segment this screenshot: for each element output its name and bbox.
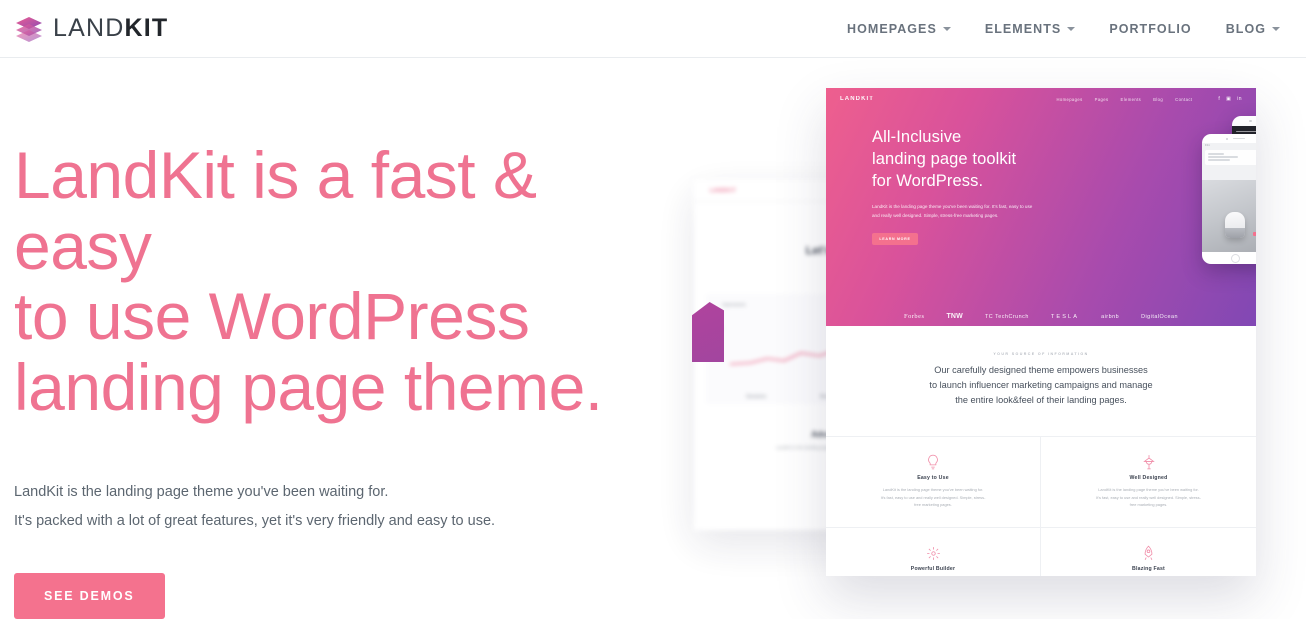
learn-more-button[interactable]: LEARN MORE bbox=[872, 233, 918, 245]
nav-item-portfolio[interactable]: PORTFOLIO bbox=[1109, 22, 1191, 36]
instagram-icon[interactable]: ▣ bbox=[1226, 97, 1231, 102]
chevron-down-icon bbox=[943, 27, 951, 31]
main-nav: HOMEPAGES ELEMENTS PORTFOLIO BLOG bbox=[847, 22, 1280, 36]
hero-subtext-line2: It's packed with a lot of great features… bbox=[14, 507, 674, 535]
brand-tesla: TESLA bbox=[1051, 314, 1079, 320]
preview-topbar: LANDKIT Homepages Pages Elements Blog Co… bbox=[826, 88, 1256, 110]
see-demos-button[interactable]: See Demos bbox=[14, 573, 165, 619]
preview-social-links: f ▣ in bbox=[1218, 97, 1242, 102]
logo-text-light: LAND bbox=[53, 14, 125, 42]
chevron-down-icon bbox=[1067, 27, 1075, 31]
preview-info-section: YOUR SOURCE OF INFORMATION Our carefully… bbox=[826, 326, 1256, 576]
nav-item-blog[interactable]: BLOG bbox=[1226, 22, 1280, 36]
preview-brand-logos: Forbes TNW TC TechCrunch TESLA airbnb Di… bbox=[826, 313, 1256, 320]
feature-card-well-designed[interactable]: Well Designed LandKit is the landing pag… bbox=[1041, 436, 1256, 527]
preview-logo: LANDKIT bbox=[840, 96, 874, 102]
nav-label: HOMEPAGES bbox=[847, 22, 937, 36]
brand-techcrunch: TC TechCrunch bbox=[985, 314, 1029, 320]
feature-desc: LandKit is the landing page theme you've… bbox=[852, 486, 1014, 509]
preview-nav-item-1[interactable]: Pages bbox=[1095, 97, 1109, 102]
preview-nav-item-4[interactable]: Contact bbox=[1175, 97, 1192, 102]
page-title: LandKit is a fast & easy to use WordPres… bbox=[14, 140, 674, 422]
feature-card-easy-to-use[interactable]: Easy to Use LandKit is the landing page … bbox=[826, 436, 1041, 527]
facebook-icon[interactable]: f bbox=[1218, 97, 1220, 102]
background-mockup-stat-label: Impressions bbox=[722, 302, 746, 307]
logo[interactable]: LANDKIT bbox=[14, 15, 168, 43]
brand-digitalocean: DigitalOcean bbox=[1141, 314, 1178, 320]
feature-title: Easy to Use bbox=[852, 475, 1014, 481]
preview-hero: LANDKIT Homepages Pages Elements Blog Co… bbox=[826, 88, 1256, 326]
nav-label: ELEMENTS bbox=[985, 22, 1061, 36]
brand-forbes: Forbes bbox=[904, 313, 924, 320]
hero-subtext: LandKit is the landing page theme you've… bbox=[14, 478, 674, 535]
feature-title: Blazing Fast bbox=[1067, 566, 1230, 572]
nav-label: BLOG bbox=[1226, 22, 1266, 36]
preview-hero-title: All-Inclusive landing page toolkit for W… bbox=[872, 126, 1076, 192]
preview-hero-body: All-Inclusive landing page toolkit for W… bbox=[826, 110, 1076, 245]
hero-section: LandKit is a fast & easy to use WordPres… bbox=[14, 140, 674, 619]
preview-card[interactable]: LANDKIT Homepages Pages Elements Blog Co… bbox=[826, 88, 1256, 576]
linkedin-icon[interactable]: in bbox=[1237, 97, 1242, 102]
feature-card-blazing-fast[interactable]: Blazing Fast LandKit is the landing page… bbox=[1041, 527, 1256, 576]
preview-nav: Homepages Pages Elements Blog Contact f … bbox=[1056, 97, 1242, 102]
gear-tools-icon bbox=[852, 544, 1014, 562]
preview-nav-item-3[interactable]: Blog bbox=[1153, 97, 1163, 102]
feature-title: Powerful Builder bbox=[852, 566, 1014, 572]
hero-subtext-line1: LandKit is the landing page theme you've… bbox=[14, 478, 674, 506]
background-mockup-stat-0: Sessions bbox=[746, 394, 766, 400]
background-mockup-logo: LANDKIT bbox=[710, 188, 736, 194]
preview-nav-item-0[interactable]: Homepages bbox=[1056, 97, 1082, 102]
layers-icon bbox=[14, 15, 44, 43]
feature-desc: LandKit is the landing page theme you've… bbox=[1067, 486, 1230, 509]
preview-eyebrow: YOUR SOURCE OF INFORMATION bbox=[826, 352, 1256, 356]
preview-lead-text: Our carefully designed theme empowers bu… bbox=[891, 363, 1191, 408]
preview-nav-item-2[interactable]: Elements bbox=[1121, 97, 1142, 102]
site-header: LANDKIT HOMEPAGES ELEMENTS PORTFOLIO BLO… bbox=[0, 0, 1306, 58]
lightbulb-icon bbox=[852, 453, 1014, 471]
logo-text-bold: KIT bbox=[125, 14, 169, 42]
brand-airbnb: airbnb bbox=[1101, 314, 1119, 320]
feature-title: Well Designed bbox=[1067, 475, 1230, 481]
nav-item-elements[interactable]: ELEMENTS bbox=[985, 22, 1075, 36]
logo-text: LANDKIT bbox=[53, 16, 168, 41]
preview-feature-grid: Easy to Use LandKit is the landing page … bbox=[826, 436, 1256, 576]
nav-label: PORTFOLIO bbox=[1109, 22, 1191, 36]
rocket-icon bbox=[1067, 544, 1230, 562]
preview-hero-paragraph: LandKit is the landing page theme you've… bbox=[872, 203, 1038, 221]
phone-front: 9:41▮ bbox=[1202, 134, 1256, 264]
brand-tnw: TNW bbox=[946, 313, 963, 320]
lamp-icon bbox=[1067, 453, 1230, 471]
nav-item-homepages[interactable]: HOMEPAGES bbox=[847, 22, 951, 36]
chevron-down-icon bbox=[1272, 27, 1280, 31]
feature-card-powerful-builder[interactable]: Powerful Builder LandKit is the landing … bbox=[826, 527, 1041, 576]
